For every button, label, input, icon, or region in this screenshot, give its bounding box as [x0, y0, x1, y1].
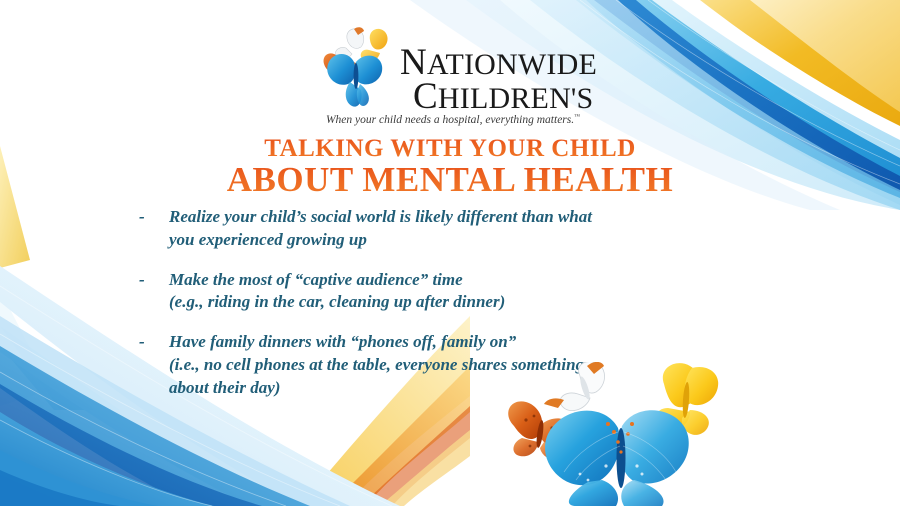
large-blue-morpho-butterfly-icon [545, 410, 689, 506]
bullet-line: Have family dinners with “phones off, fa… [169, 331, 779, 354]
title-line-2: ABOUT MENTAL HEALTH [0, 162, 900, 198]
list-item: - Make the most of “captive audience” ti… [139, 269, 779, 315]
logo-wordmark-rest-nationwide: ATIONWIDE [427, 48, 597, 81]
bullet-marker: - [139, 331, 169, 354]
white-orange-tip-butterfly-icon [544, 362, 605, 411]
bullet-line: Realize your child’s social world is lik… [169, 206, 779, 229]
logo-tagline: When your child needs a hospital, everyt… [318, 114, 588, 126]
logo-wordmark: NATIONWIDE CHILDREN'S [400, 46, 597, 114]
logo-wordmark-line-2: CHILDREN'S [400, 80, 597, 114]
bullet-line: (e.g., riding in the car, cleaning up af… [169, 291, 779, 314]
list-item: - Realize your child’s social world is l… [139, 206, 779, 252]
logo-wordmark-line-1: NATIONWIDE [400, 46, 597, 80]
logo-wordmark-rest-childrens: HILDREN'S [438, 82, 594, 115]
nationwide-childrens-logo: NATIONWIDE CHILDREN'S When your child ne… [318, 26, 588, 134]
bullet-line: Make the most of “captive audience” time [169, 269, 779, 292]
trademark-mark: ™ [574, 114, 580, 120]
white-butterfly-icon [336, 27, 364, 58]
blue-morpho-butterfly-icon [327, 54, 382, 107]
bullet-marker: - [139, 269, 169, 292]
slide-canvas: NATIONWIDE CHILDREN'S When your child ne… [0, 0, 900, 506]
butterfly-cluster-decoration [492, 362, 742, 506]
logo-tagline-text: When your child needs a hospital, everyt… [326, 114, 574, 126]
bullet-text: Realize your child’s social world is lik… [169, 206, 779, 252]
bullet-line: you experienced growing up [169, 229, 779, 252]
logo-wordmark-cap-c: C [413, 76, 438, 117]
logo-butterfly-cluster-icon [318, 26, 396, 108]
bullet-marker: - [139, 206, 169, 229]
slide-title: TALKING WITH YOUR CHILD ABOUT MENTAL HEA… [0, 136, 900, 198]
bullet-text: Make the most of “captive audience” time… [169, 269, 779, 315]
title-line-1: TALKING WITH YOUR CHILD [0, 136, 900, 162]
